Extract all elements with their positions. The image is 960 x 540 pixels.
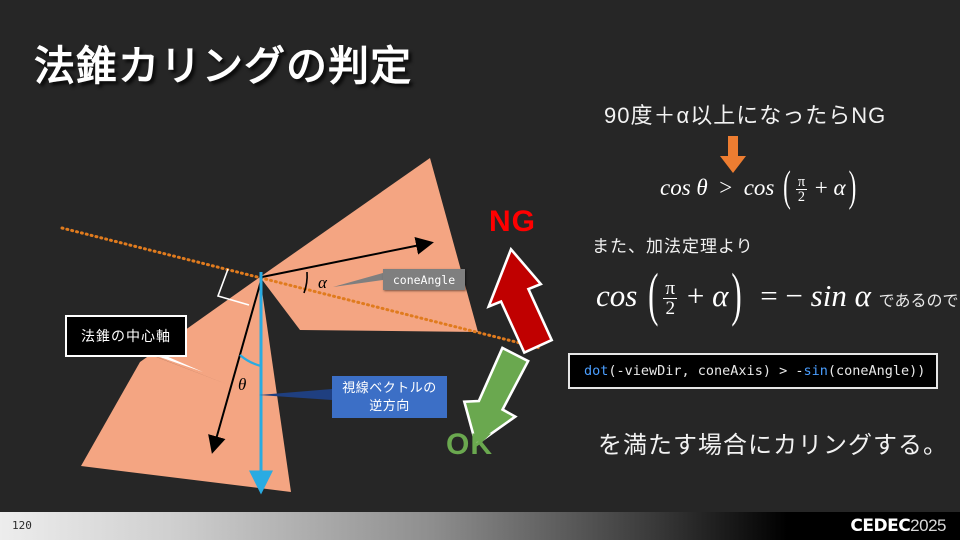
callout-cone-angle[interactable]: coneAngle	[383, 269, 465, 290]
ng-condition-text: 90度＋α以上になったらNG	[604, 98, 886, 130]
page-title: 法錐カリングの判定	[34, 32, 412, 92]
callout-cone-axis[interactable]: 法錐の中心軸	[65, 315, 187, 357]
theta-symbol: θ	[238, 375, 246, 394]
callout-view-vector-line2: 逆方向	[369, 397, 410, 415]
code-snippet-box[interactable]: dot(-viewDir, coneAxis) > -sin(coneAngle…	[568, 353, 938, 389]
code-snippet-text: dot(-viewDir, coneAxis) > -sin(coneAngle…	[570, 363, 925, 379]
callout-cone-axis-label: 法錐の中心軸	[81, 326, 171, 346]
cedec-logo: CEDEC2025	[850, 516, 946, 536]
footer-bar: 120 CEDEC2025	[0, 512, 960, 540]
callout-view-vector[interactable]: 視線ベクトルの 逆方向	[332, 376, 447, 418]
callout-view-vector-line1: 視線ベクトルの	[342, 379, 437, 397]
code-args: (-viewDir, coneAxis) > -	[608, 363, 803, 379]
slide-canvas: α θ	[0, 0, 960, 540]
ng-verdict-label: NG	[489, 205, 536, 239]
code-fn-dot: dot	[584, 363, 608, 379]
ng-arrow-shape	[480, 245, 553, 357]
code-fn-sin: sin	[803, 363, 827, 379]
alpha-symbol: α	[318, 273, 328, 292]
formula-identity: cos (π2 + α) = − sin α であるので	[596, 278, 958, 319]
formula-identity-suffix: であるので	[879, 293, 959, 310]
ok-verdict-label: OK	[446, 428, 493, 462]
callout-cone-angle-label: coneAngle	[393, 273, 455, 287]
addition-theorem-note: また、加法定理より	[592, 232, 754, 257]
formula-inequality: cos θ > cos (π2 + α)	[660, 175, 859, 205]
cedec-logo-bold: CEDEC	[850, 516, 910, 536]
conclusion-text: を満たす場合にカリングする。	[598, 425, 948, 460]
page-number: 120	[12, 519, 32, 532]
code-tail: (coneAngle))	[828, 363, 926, 379]
cedec-logo-year: 2025	[910, 516, 946, 535]
down-arrow-icon	[718, 136, 748, 174]
